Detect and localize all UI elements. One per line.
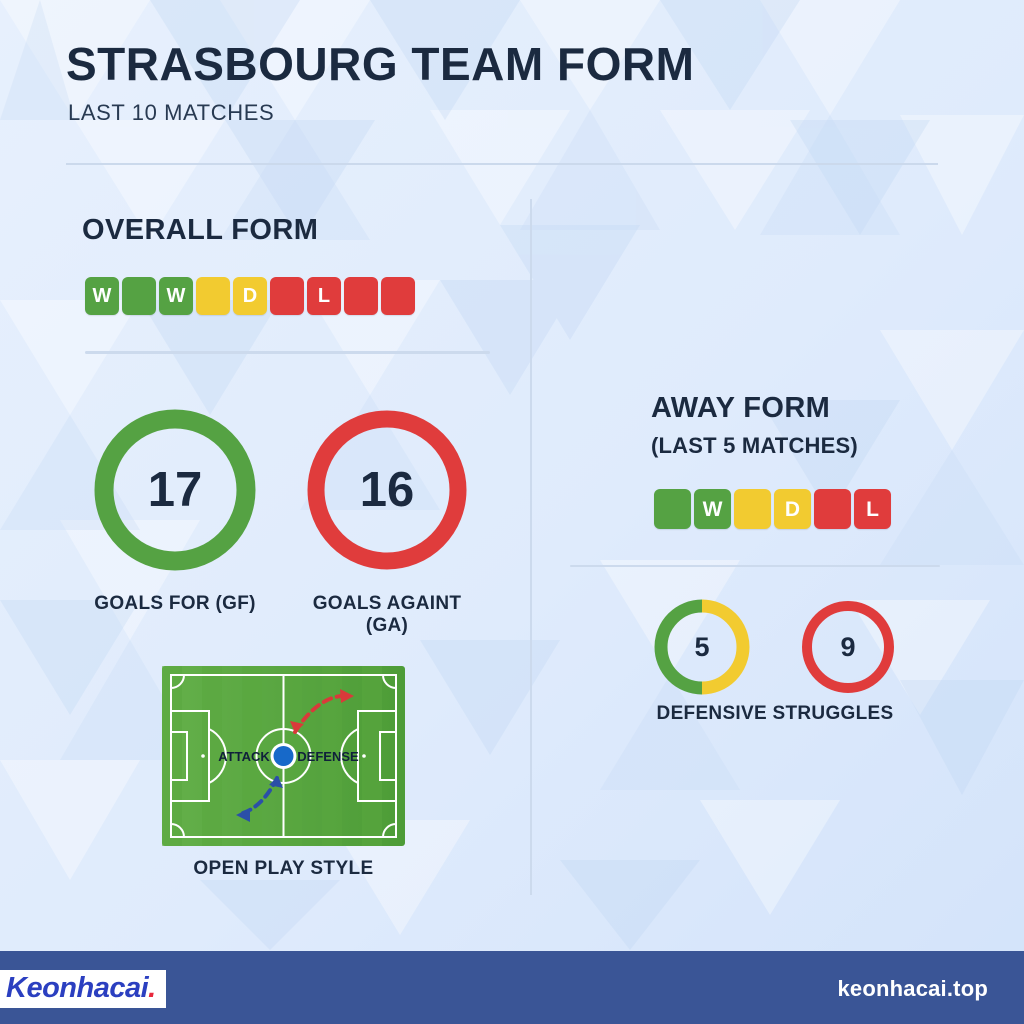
overall-section-divider	[85, 351, 490, 354]
goals-against-label: GOALS AGAINT (GA)	[302, 593, 472, 637]
play-style-label: OPEN PLAY STYLE	[162, 858, 405, 880]
footer-bar: Keonhacai. keonhacai.top	[0, 951, 1024, 1024]
form-badge[interactable]	[196, 277, 230, 315]
away-form-badge[interactable]	[814, 489, 851, 529]
site-url: keonhacai.top	[837, 976, 988, 1002]
goals-against-donut: 16	[302, 405, 472, 575]
away-form-badges: W D L	[654, 489, 891, 529]
away-section-divider	[570, 565, 940, 567]
form-badge[interactable]	[270, 277, 304, 315]
away-form-subheading: (LAST 5 MATCHES)	[651, 433, 858, 459]
pitch-svg: ATTACK DEFENSE	[162, 666, 405, 846]
form-badge[interactable]: W	[85, 277, 119, 315]
overall-form-badges: W W D L	[85, 277, 415, 315]
goals-for-donut: 17	[90, 405, 260, 575]
defensive-struggles-label: DEFENSIVE STRUGGLES	[620, 703, 930, 725]
column-divider	[530, 199, 532, 895]
away-form-badge[interactable]	[734, 489, 771, 529]
play-style-diagram: ATTACK DEFENSE OPEN PLAY STYLE	[162, 666, 405, 851]
goals-for-value: 17	[90, 405, 260, 575]
attack-label: ATTACK	[218, 749, 270, 764]
defense-label: DEFENSE	[297, 749, 359, 764]
form-badge[interactable]: D	[233, 277, 267, 315]
form-badge[interactable]: W	[159, 277, 193, 315]
away-form-badge[interactable]: L	[854, 489, 891, 529]
page-subtitle: LAST 10 MATCHES	[68, 100, 274, 126]
form-badge[interactable]: L	[307, 277, 341, 315]
overall-form-heading: OVERALL FORM	[82, 214, 318, 247]
brand-logo-dot: .	[148, 972, 156, 1004]
defensive-gauge-left-value: 5	[652, 597, 752, 697]
away-form-badge[interactable]: W	[694, 489, 731, 529]
away-form-badge[interactable]	[654, 489, 691, 529]
goals-for-label: GOALS FOR (GF)	[90, 593, 260, 615]
away-form-badge[interactable]: D	[774, 489, 811, 529]
form-badge[interactable]	[381, 277, 415, 315]
brand-logo[interactable]: Keonhacai.	[0, 970, 166, 1008]
form-badge[interactable]	[344, 277, 378, 315]
goals-for-stat: 17 GOALS FOR (GF)	[90, 405, 260, 575]
goals-against-value: 16	[302, 405, 472, 575]
away-form-heading: AWAY FORM	[651, 392, 830, 425]
goals-against-stat: 16 GOALS AGAINT (GA)	[302, 405, 472, 575]
ball-icon	[274, 746, 294, 766]
defensive-gauge-left-donut: 5	[652, 597, 752, 697]
defensive-gauge-left: 5	[652, 597, 752, 697]
defensive-gauge-right: 9	[798, 597, 898, 697]
defensive-gauge-right-value: 9	[798, 597, 898, 697]
form-badge[interactable]	[122, 277, 156, 315]
page-title: STRASBOURG TEAM FORM	[66, 41, 694, 87]
header-divider	[66, 163, 938, 165]
brand-logo-text: Keonhacai	[6, 972, 148, 1004]
defensive-gauge-right-donut: 9	[798, 597, 898, 697]
